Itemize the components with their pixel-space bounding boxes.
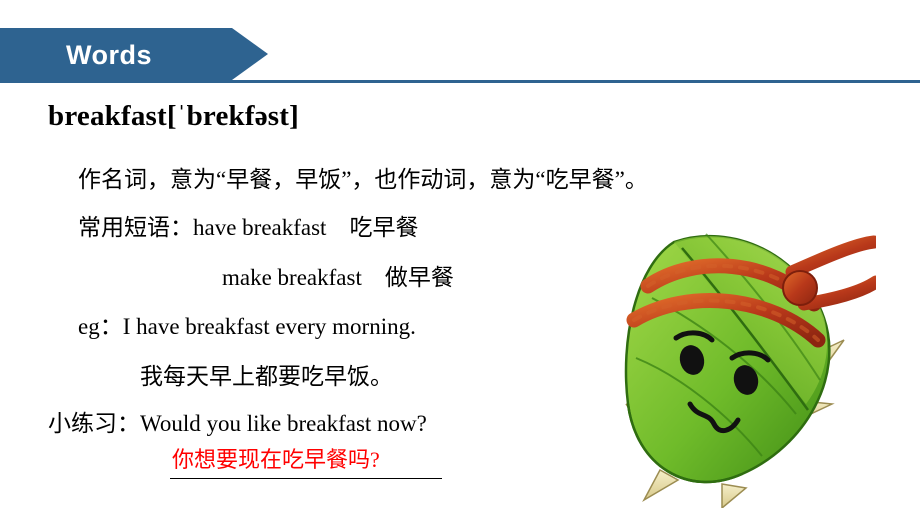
page-title: Words [66, 40, 152, 71]
zongzi-character-image [556, 208, 876, 508]
header-divider [0, 80, 920, 83]
definition-line: 作名词，意为“早餐，早饭”，也作动词，意为“吃早餐”。 [78, 160, 648, 194]
phrase-line-2: make breakfast 做早餐 [222, 258, 454, 292]
practice-question: Would you like breakfast now? [140, 411, 427, 436]
example-sentence-cn: 我每天早上都要吃早饭。 [140, 357, 393, 391]
headword: breakfast[ˈbrekfəst] [48, 100, 299, 133]
phrase-label: 常用短语： [78, 215, 193, 240]
example-line: eg：I have breakfast every morning. [78, 307, 416, 341]
practice-line: 小练习：Would you like breakfast now? [48, 404, 427, 438]
example-sentence-en: I have breakfast every morning. [123, 314, 416, 339]
answer-underline [170, 478, 442, 479]
phrase-line-1: 常用短语：have breakfast 吃早餐 [78, 208, 418, 242]
practice-answer: 你想要现在吃早餐吗? [172, 442, 380, 474]
practice-label: 小练习： [48, 411, 140, 436]
example-label: eg： [78, 314, 123, 339]
phrase-1: have breakfast 吃早餐 [193, 215, 418, 240]
